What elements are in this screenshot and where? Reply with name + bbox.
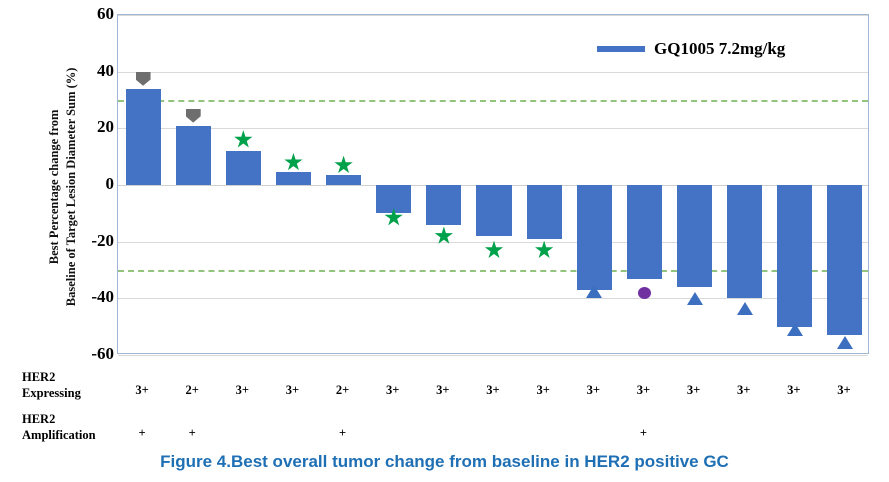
y-tick-label-0: 0: [68, 175, 114, 192]
y-tick-label--60: -60: [68, 345, 114, 362]
triangle-up-icon: [586, 285, 602, 298]
her2-expressing-value: 3+: [568, 383, 618, 398]
y-axis-title: Best Percentage change from Baseline of …: [14, 20, 60, 350]
her2-expressing-row: 3+2+3+3+2+3+3+3+3+3+3+3+3+3+3+: [117, 383, 869, 403]
her2-amplification-value: +: [618, 426, 668, 441]
shield-down-icon: [186, 109, 201, 123]
triangle-up-icon: [687, 292, 703, 305]
plot-area: GQ1005 7.2mg/kg PRSDPDNE: [117, 14, 869, 354]
her2-expressing-label: HER2 Expressing: [22, 370, 81, 401]
triangle-up-icon: [737, 302, 753, 315]
her2-expressing-value: 3+: [618, 383, 668, 398]
y-tick-label--40: -40: [68, 288, 114, 305]
star-icon: [485, 241, 504, 260]
star-icon: [284, 153, 303, 172]
her2-amplification-label: HER2 Amplification: [22, 412, 96, 443]
her2-expressing-value: 3+: [769, 383, 819, 398]
gridline--60: [118, 355, 868, 356]
her2-expressing-value: 3+: [418, 383, 468, 398]
response-markers: [118, 15, 868, 353]
her2-amplification-row: ++++: [117, 426, 869, 446]
shield-down-icon: [136, 72, 151, 86]
her2-expressing-value: 2+: [167, 383, 217, 398]
her2-amplification-value: +: [318, 426, 368, 441]
star-icon: [384, 208, 403, 227]
her2-expressing-value: 3+: [719, 383, 769, 398]
triangle-up-icon: [837, 336, 853, 349]
legend-series: GQ1005 7.2mg/kg: [597, 39, 785, 59]
legend-series-label: GQ1005 7.2mg/kg: [654, 39, 785, 59]
circle-icon: [638, 287, 651, 299]
y-tick-label-40: 40: [68, 62, 114, 79]
star-icon: [434, 227, 453, 246]
her2-expressing-value: 3+: [668, 383, 718, 398]
star-icon: [535, 241, 554, 260]
y-tick-label--20: -20: [68, 232, 114, 249]
y-tick-label-60: 60: [68, 5, 114, 22]
star-icon: [334, 156, 353, 175]
legend-series-swatch: [597, 46, 645, 52]
waterfall-figure: Best Percentage change from Baseline of …: [0, 0, 889, 482]
star-icon: [234, 130, 253, 149]
her2-amplification-value: +: [167, 426, 217, 441]
her2-expressing-value: 3+: [217, 383, 267, 398]
her2-expressing-label-line1: HER2: [22, 370, 55, 384]
her2-expressing-value: 3+: [518, 383, 568, 398]
her2-expressing-value: 3+: [117, 383, 167, 398]
her2-expressing-label-line2: Expressing: [22, 386, 81, 400]
her2-amplification-value: +: [117, 426, 167, 441]
her2-expressing-value: 3+: [267, 383, 317, 398]
her2-amplification-label-line2: Amplification: [22, 428, 96, 442]
her2-expressing-value: 3+: [468, 383, 518, 398]
her2-expressing-value: 3+: [819, 383, 869, 398]
figure-caption: Figure 4.Best overall tumor change from …: [0, 452, 889, 472]
her2-expressing-value: 2+: [318, 383, 368, 398]
triangle-up-icon: [787, 323, 803, 336]
her2-expressing-value: 3+: [368, 383, 418, 398]
her2-amplification-label-line1: HER2: [22, 412, 55, 426]
y-axis: 6040200-20-40-60: [58, 0, 114, 370]
y-tick-label-20: 20: [68, 118, 114, 135]
